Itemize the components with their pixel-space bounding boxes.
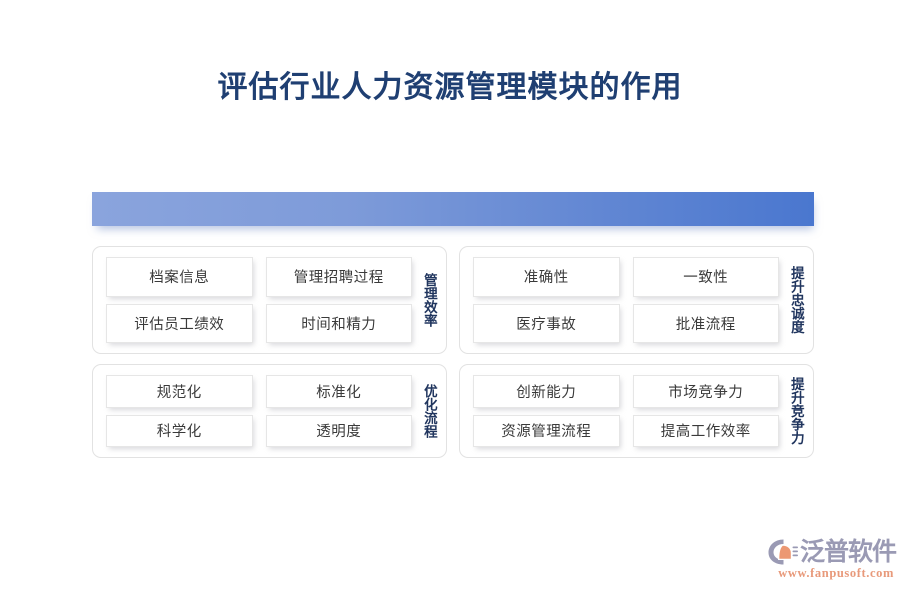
panel-item[interactable]: 评估员工绩效 <box>106 304 253 344</box>
panel-label-text: 提升竞争力 <box>789 377 803 445</box>
panel-items: 档案信息 管理招聘过程 评估员工绩效 时间和精力 <box>101 247 416 353</box>
panel-items: 创新能力 市场竞争力 资源管理流程 提高工作效率 <box>468 365 783 457</box>
panel-item[interactable]: 标准化 <box>266 375 413 408</box>
panel-label: 管理效率 <box>416 247 442 353</box>
logo-company-name: 泛普软件 <box>800 537 896 567</box>
panel-item[interactable]: 创新能力 <box>473 375 620 408</box>
panel-item[interactable]: 医疗事故 <box>473 304 620 344</box>
panel-item[interactable]: 准确性 <box>473 257 620 297</box>
gradient-bar <box>92 192 814 226</box>
page-title: 评估行业人力资源管理模块的作用 <box>0 62 900 106</box>
panel-item[interactable]: 一致性 <box>633 257 780 297</box>
quadrant-grid: 档案信息 管理招聘过程 评估员工绩效 时间和精力 管理效率 准确性 一致性 医疗… <box>92 246 814 458</box>
panel-management-efficiency[interactable]: 档案信息 管理招聘过程 评估员工绩效 时间和精力 管理效率 <box>92 246 447 354</box>
panel-item[interactable]: 档案信息 <box>106 257 253 297</box>
panel-label-text: 提升忠诚度 <box>789 266 803 334</box>
company-logo[interactable]: 泛普软件 www.fanpusoft.com <box>766 536 894 584</box>
panel-label-text: 管理效率 <box>422 273 436 327</box>
panel-item[interactable]: 提高工作效率 <box>633 415 780 448</box>
panel-item[interactable]: 透明度 <box>266 415 413 448</box>
panel-item[interactable]: 科学化 <box>106 415 253 448</box>
panel-item[interactable]: 规范化 <box>106 375 253 408</box>
panel-items: 规范化 标准化 科学化 透明度 <box>101 365 416 457</box>
panel-label-text: 优化流程 <box>422 384 436 438</box>
panel-item[interactable]: 批准流程 <box>633 304 780 344</box>
panel-loyalty[interactable]: 准确性 一致性 医疗事故 批准流程 提升忠诚度 <box>459 246 814 354</box>
panel-item[interactable]: 资源管理流程 <box>473 415 620 448</box>
panel-competitiveness[interactable]: 创新能力 市场竞争力 资源管理流程 提高工作效率 提升竞争力 <box>459 364 814 458</box>
panel-label: 提升竞争力 <box>783 365 809 457</box>
panel-item[interactable]: 市场竞争力 <box>633 375 780 408</box>
fanpu-swoosh-icon <box>766 537 798 567</box>
panel-item[interactable]: 管理招聘过程 <box>266 257 413 297</box>
panel-label: 提升忠诚度 <box>783 247 809 353</box>
panel-label: 优化流程 <box>416 365 442 457</box>
panel-items: 准确性 一致性 医疗事故 批准流程 <box>468 247 783 353</box>
decorative-banner <box>92 192 814 226</box>
panel-optimize-process[interactable]: 规范化 标准化 科学化 透明度 优化流程 <box>92 364 447 458</box>
logo-row: 泛普软件 <box>766 536 894 568</box>
panel-item[interactable]: 时间和精力 <box>266 304 413 344</box>
logo-website-url: www.fanpusoft.com <box>766 566 894 581</box>
